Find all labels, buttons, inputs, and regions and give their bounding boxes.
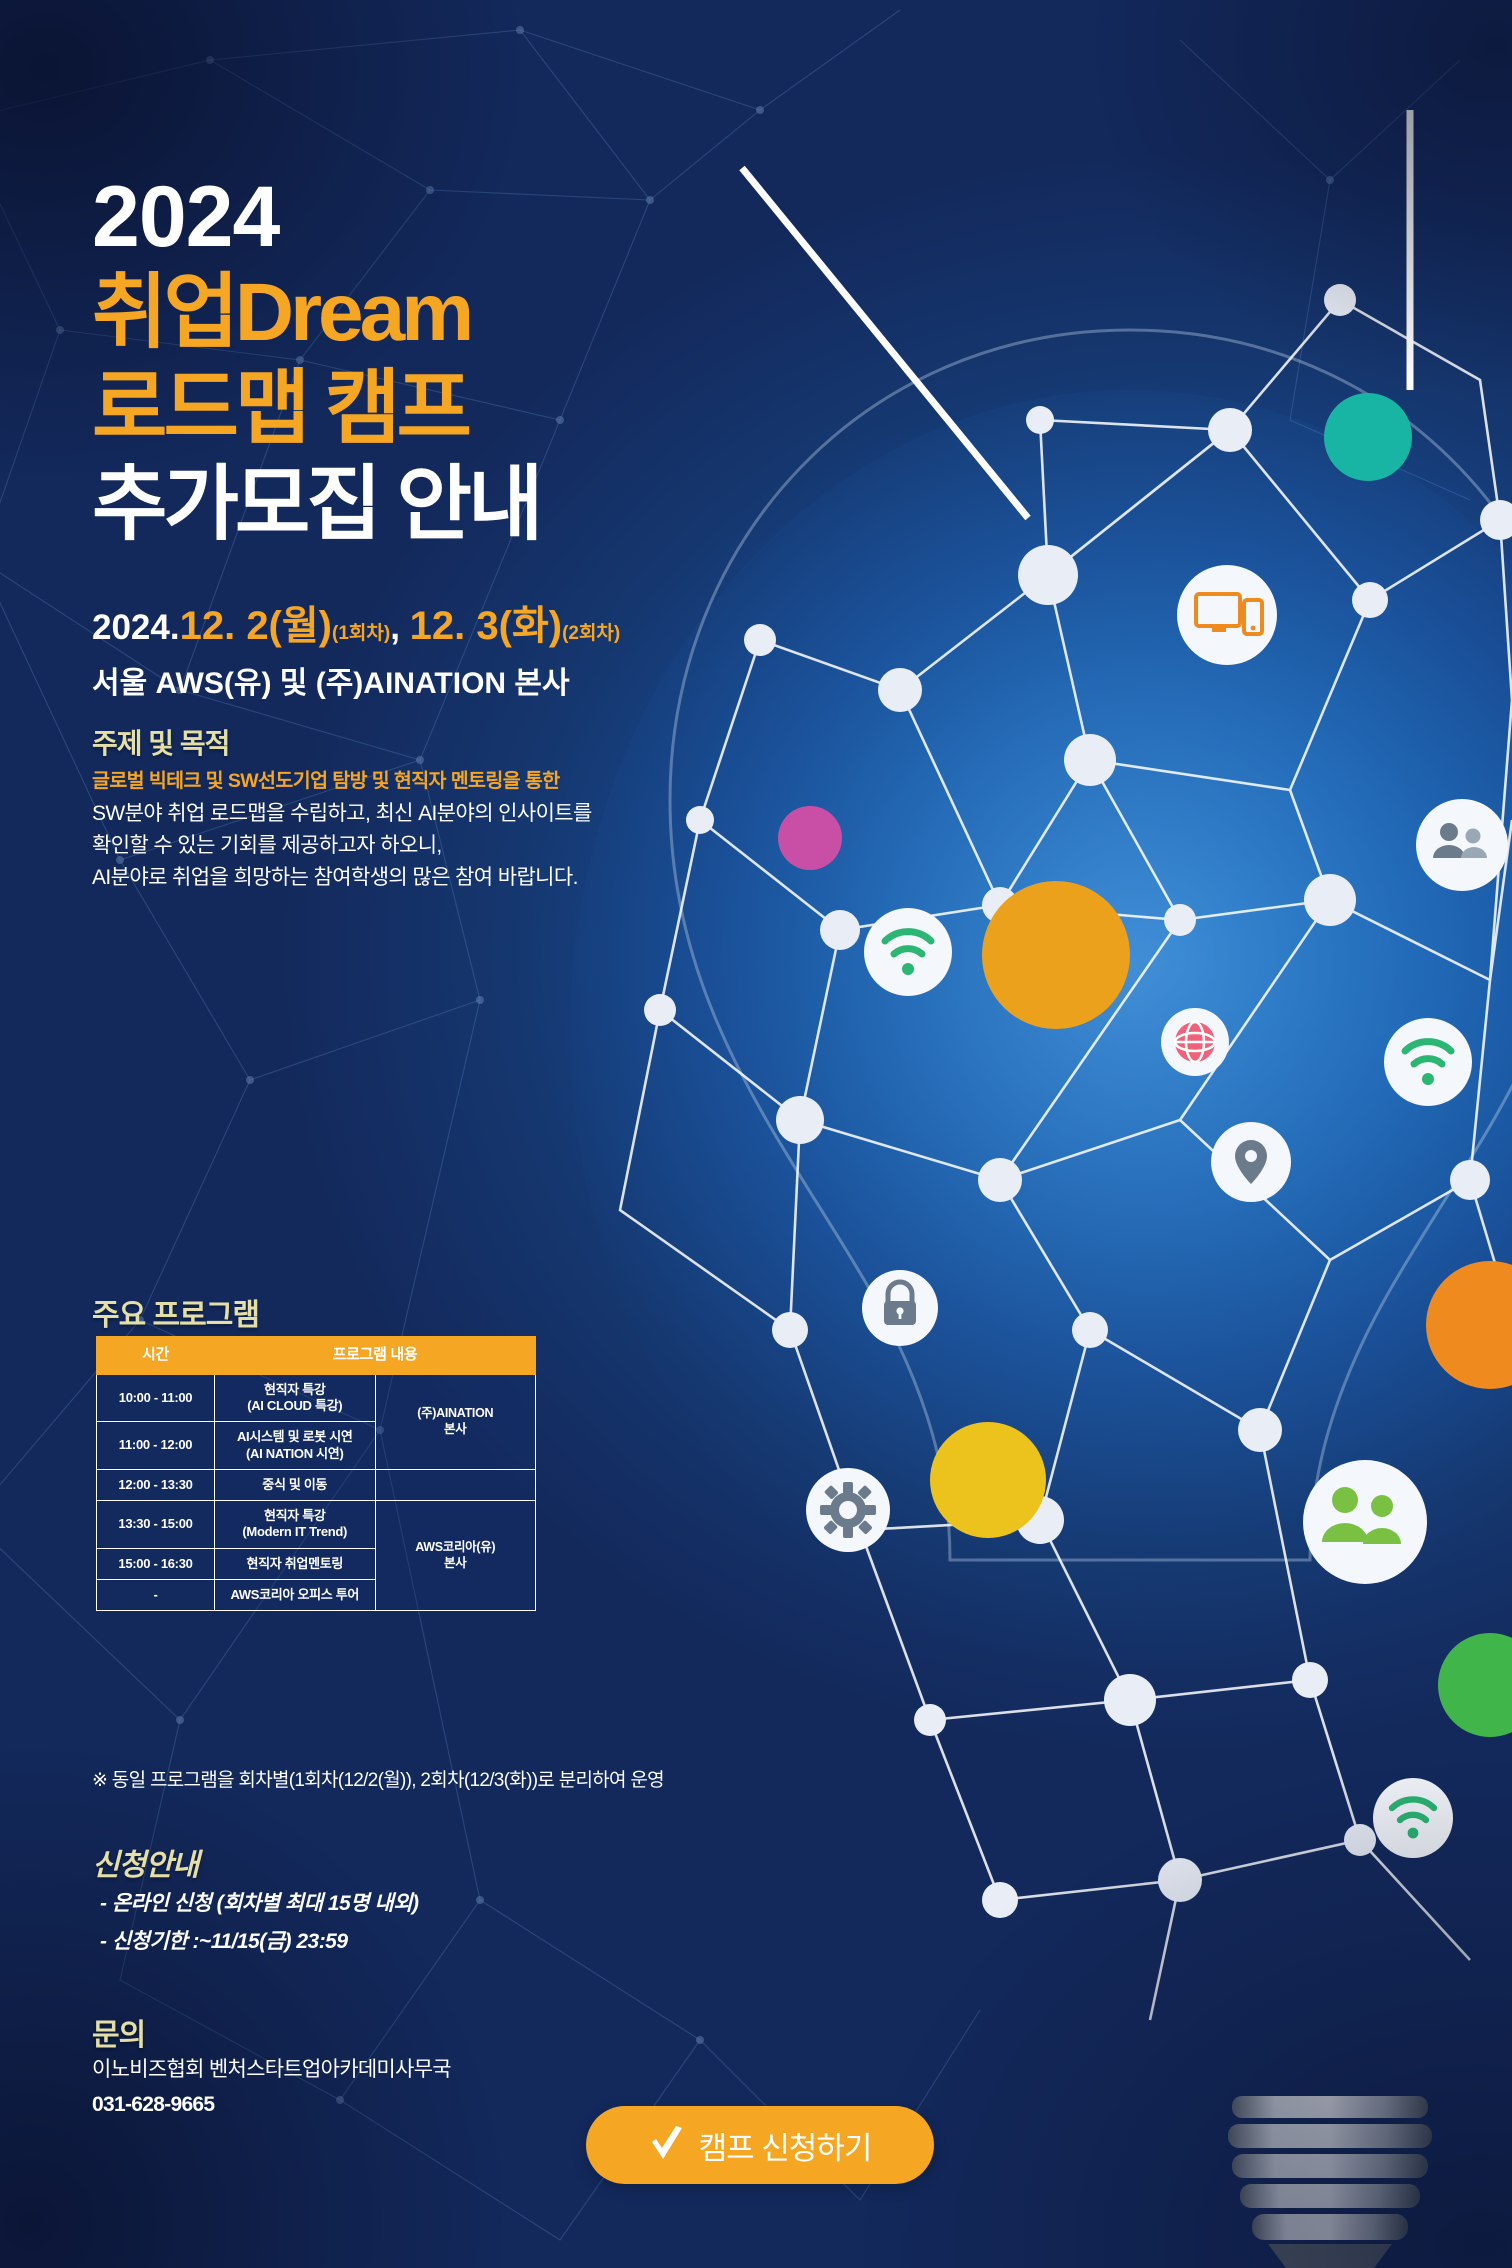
cell-content: 현직자 특강(AI CLOUD 특강) bbox=[215, 1374, 376, 1422]
date-first-session: (1회차) bbox=[332, 623, 390, 644]
date-separator: , bbox=[390, 608, 400, 647]
cell-content: 현직자 특강(Modern IT Trend) bbox=[215, 1501, 376, 1549]
date-first: 12. 2(월) bbox=[180, 604, 332, 648]
poster-canvas: 2024 취업Dream 로드맵 캠프 추가모집 안내 2024.12. 2(월… bbox=[0, 0, 1512, 2268]
lock-icon bbox=[862, 1270, 938, 1346]
table-row: 13:30 - 15:00 현직자 특강(Modern IT Trend) AW… bbox=[97, 1501, 536, 1549]
contact-organization: 이노비즈협회 벤처스타트업아카데미사무국 bbox=[92, 2053, 451, 2083]
globe-icon bbox=[1161, 1008, 1229, 1076]
cell-content: AWS코리아 오피스 투어 bbox=[215, 1579, 376, 1610]
cell-content: 현직자 취업멘토링 bbox=[215, 1548, 376, 1579]
cell-time: 11:00 - 12:00 bbox=[97, 1422, 215, 1470]
event-venue: 서울 AWS(유) 및 (주)AINATION 본사 bbox=[92, 658, 570, 702]
apply-camp-button[interactable]: 캠프 신청하기 bbox=[586, 2106, 934, 2184]
table-header-row: 시간 프로그램 내용 bbox=[97, 1337, 536, 1375]
location-suffix: 본사 bbox=[444, 1422, 466, 1436]
title-line-1: 취업Dream bbox=[92, 272, 470, 354]
location-suffix: 본사 bbox=[444, 1556, 466, 1570]
check-icon bbox=[649, 2125, 685, 2165]
program-table-body: 10:00 - 11:00 현직자 특강(AI CLOUD 특강) (주)AIN… bbox=[97, 1374, 536, 1610]
date-prefix: 2024. bbox=[92, 608, 180, 647]
table-row: 12:00 - 13:30 중식 및 이동 bbox=[97, 1469, 536, 1500]
title-line-2: 로드맵 캠프 bbox=[92, 368, 468, 450]
page-year: 2024 bbox=[92, 174, 279, 260]
cell-time: 12:00 - 13:30 bbox=[97, 1469, 215, 1500]
teal-node bbox=[1324, 393, 1412, 481]
topic-body-line-1: SW분야 취업 로드맵을 수립하고, 최신 AI분야의 인사이트를 bbox=[92, 797, 592, 827]
section-heading-contact: 문의 bbox=[92, 2010, 145, 2054]
date-second: 12. 3(화) bbox=[410, 604, 562, 648]
table-row: 10:00 - 11:00 현직자 특강(AI CLOUD 특강) (주)AIN… bbox=[97, 1374, 536, 1422]
location-name: AWS코리아(유) bbox=[415, 1540, 495, 1554]
cell-time: - bbox=[97, 1579, 215, 1610]
apply-item-2: - 신청기한 :~11/15(금) 23:59 bbox=[100, 1925, 348, 1955]
people-group-icon bbox=[1303, 1460, 1427, 1584]
content-main: AI시스템 및 로봇 시연 bbox=[237, 1429, 353, 1444]
yellow-node bbox=[930, 1422, 1046, 1538]
people-icon bbox=[1416, 799, 1508, 891]
topic-lead-text: 글로벌 빅테크 및 SW선도기업 탐방 및 현직자 멘토링을 통한 bbox=[92, 764, 560, 793]
content-sub: (AI NATION 시연) bbox=[246, 1446, 343, 1461]
column-header-content: 프로그램 내용 bbox=[215, 1337, 536, 1375]
wifi-icon bbox=[1373, 1778, 1453, 1858]
content-main: 현직자 특강 bbox=[264, 1382, 326, 1397]
apply-item-1: - 온라인 신청 (회차별 최대 15명 내외) bbox=[100, 1887, 419, 1917]
cell-location: (주)AINATION본사 bbox=[375, 1374, 536, 1469]
program-note: ※ 동일 프로그램을 회차별(1회차(12/2(월)), 2회차(12/3(화)… bbox=[92, 1765, 664, 1792]
wifi-icon bbox=[864, 908, 952, 996]
cell-time: 10:00 - 11:00 bbox=[97, 1374, 215, 1422]
cell-time: 15:00 - 16:30 bbox=[97, 1548, 215, 1579]
wifi-icon bbox=[1384, 1018, 1472, 1106]
title-line-3: 추가모집 안내 bbox=[92, 464, 539, 546]
monitor-mobile-icon bbox=[1177, 565, 1277, 665]
section-heading-apply: 신청안내 bbox=[92, 1840, 198, 1884]
content-sub: (AI CLOUD 특강) bbox=[247, 1398, 342, 1413]
topic-body-line-3: AI분야로 취업을 희망하는 참여학생의 많은 참여 바랍니다. bbox=[92, 861, 578, 891]
content-sub: (Modern IT Trend) bbox=[242, 1524, 347, 1539]
program-table-wrapper: 시간 프로그램 내용 10:00 - 11:00 현직자 특강(AI CLOUD… bbox=[96, 1336, 536, 1611]
apply-camp-button-label: 캠프 신청하기 bbox=[699, 2123, 872, 2168]
program-table: 시간 프로그램 내용 10:00 - 11:00 현직자 특강(AI CLOUD… bbox=[96, 1336, 536, 1611]
column-header-time: 시간 bbox=[97, 1337, 215, 1375]
location-pin-icon bbox=[1211, 1122, 1291, 1202]
contact-phone: 031-628-9665 bbox=[92, 2093, 214, 2117]
content-main: 현직자 특강 bbox=[264, 1508, 326, 1523]
date-second-session: (2회차) bbox=[562, 623, 620, 644]
green-node bbox=[1438, 1633, 1512, 1737]
bulb-base bbox=[1228, 2096, 1432, 2268]
event-dateline: 2024.12. 2(월)(1회차), 12. 3(화)(2회차) bbox=[92, 606, 620, 646]
location-name: (주)AINATION bbox=[417, 1406, 493, 1420]
cell-content: AI시스템 및 로봇 시연(AI NATION 시연) bbox=[215, 1422, 376, 1470]
cell-content: 중식 및 이동 bbox=[215, 1469, 376, 1500]
orange-node bbox=[982, 881, 1130, 1029]
section-heading-topic: 주제 및 목적 bbox=[92, 722, 229, 762]
cell-time: 13:30 - 15:00 bbox=[97, 1501, 215, 1549]
cell-location: AWS코리아(유)본사 bbox=[375, 1501, 536, 1611]
topic-body-line-2: 확인할 수 있는 기회를 제공하고자 하오니, bbox=[92, 829, 442, 859]
cell-location-empty bbox=[375, 1469, 536, 1500]
section-heading-program: 주요 프로그램 bbox=[92, 1290, 259, 1334]
